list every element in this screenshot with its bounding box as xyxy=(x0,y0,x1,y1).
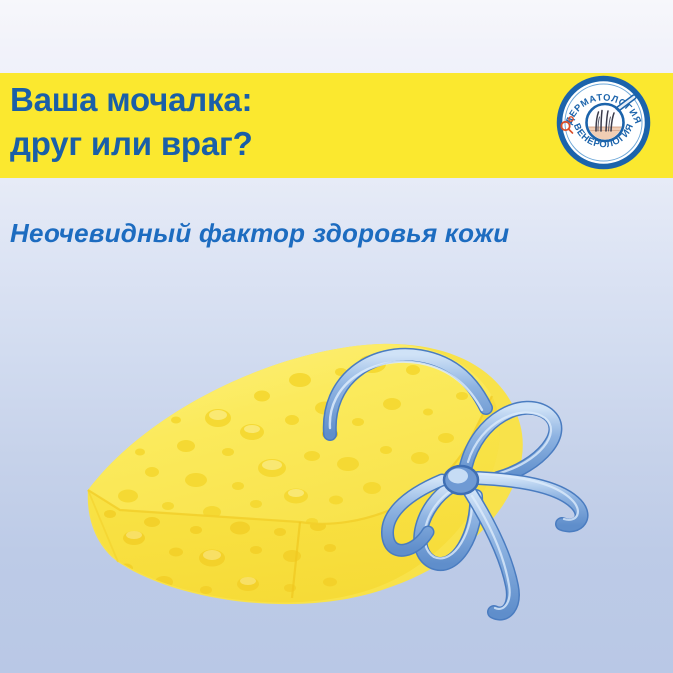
page-subtitle: Неочевидный фактор здоровья кожи xyxy=(10,218,630,249)
sponge-illustration xyxy=(0,300,673,673)
page-title: Ваша мочалка: друг или враг? xyxy=(10,78,530,166)
poster-canvas: Ваша мочалка: друг или враг? Неочевидный… xyxy=(0,0,673,673)
rope-knot xyxy=(444,466,478,494)
skin-follicle-emblem xyxy=(587,104,624,141)
clinic-logo[interactable]: ДЕРМАТОЛОГИЯ ВЕНЕРОЛОГИЯ xyxy=(555,74,652,171)
